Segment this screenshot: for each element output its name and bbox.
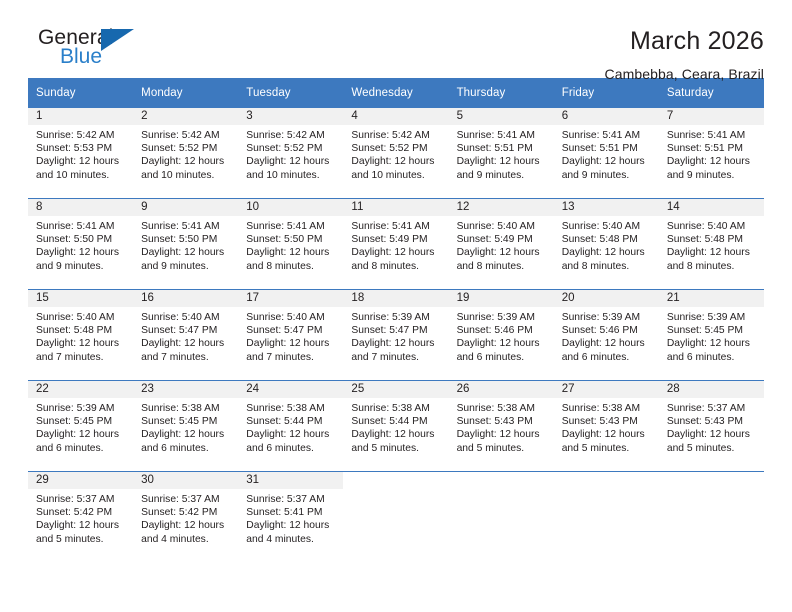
calendar-day-cell[interactable]: 22Sunrise: 5:39 AMSunset: 5:45 PMDayligh… xyxy=(28,381,133,472)
daylight-duration-line1: Daylight: 12 hours xyxy=(457,428,548,441)
calendar-day-cell[interactable]: 14Sunrise: 5:40 AMSunset: 5:48 PMDayligh… xyxy=(659,199,764,290)
day-number: 2 xyxy=(133,108,238,125)
daylight-duration-line2: and 8 minutes. xyxy=(246,260,337,273)
sunrise-time: Sunrise: 5:37 AM xyxy=(141,493,232,506)
sunset-time: Sunset: 5:52 PM xyxy=(246,142,337,155)
sunset-time: Sunset: 5:50 PM xyxy=(36,233,127,246)
day-details: Sunrise: 5:37 AMSunset: 5:41 PMDaylight:… xyxy=(238,489,343,546)
daylight-duration-line1: Daylight: 12 hours xyxy=(562,155,653,168)
sunset-time: Sunset: 5:47 PM xyxy=(141,324,232,337)
weekday-header-monday: Monday xyxy=(133,78,238,108)
daylight-duration-line1: Daylight: 12 hours xyxy=(667,155,758,168)
daylight-duration-line2: and 10 minutes. xyxy=(36,169,127,182)
calendar-day-cell-empty xyxy=(449,472,554,563)
daylight-duration-line1: Daylight: 12 hours xyxy=(562,246,653,259)
day-number: 16 xyxy=(133,290,238,307)
day-number: 6 xyxy=(554,108,659,125)
calendar-day-cell[interactable]: 8Sunrise: 5:41 AMSunset: 5:50 PMDaylight… xyxy=(28,199,133,290)
day-number: 31 xyxy=(238,472,343,489)
day-number xyxy=(554,472,659,489)
day-number: 17 xyxy=(238,290,343,307)
day-details: Sunrise: 5:40 AMSunset: 5:48 PMDaylight:… xyxy=(554,216,659,273)
daylight-duration-line2: and 7 minutes. xyxy=(246,351,337,364)
daylight-duration-line2: and 6 minutes. xyxy=(36,442,127,455)
sunrise-time: Sunrise: 5:39 AM xyxy=(351,311,442,324)
sunrise-time: Sunrise: 5:40 AM xyxy=(562,220,653,233)
daylight-duration-line1: Daylight: 12 hours xyxy=(36,246,127,259)
sunrise-time: Sunrise: 5:41 AM xyxy=(667,129,758,142)
sunset-time: Sunset: 5:45 PM xyxy=(667,324,758,337)
daylight-duration-line2: and 5 minutes. xyxy=(36,533,127,546)
daylight-duration-line2: and 5 minutes. xyxy=(667,442,758,455)
sunrise-time: Sunrise: 5:37 AM xyxy=(667,402,758,415)
sunset-time: Sunset: 5:42 PM xyxy=(141,506,232,519)
daylight-duration-line2: and 6 minutes. xyxy=(667,351,758,364)
day-details: Sunrise: 5:37 AMSunset: 5:42 PMDaylight:… xyxy=(28,489,133,546)
calendar-day-cell[interactable]: 23Sunrise: 5:38 AMSunset: 5:45 PMDayligh… xyxy=(133,381,238,472)
sunset-time: Sunset: 5:52 PM xyxy=(351,142,442,155)
sunrise-time: Sunrise: 5:40 AM xyxy=(36,311,127,324)
calendar-day-cell-empty xyxy=(554,472,659,563)
daylight-duration-line1: Daylight: 12 hours xyxy=(351,155,442,168)
day-details: Sunrise: 5:37 AMSunset: 5:43 PMDaylight:… xyxy=(659,398,764,455)
daylight-duration-line2: and 9 minutes. xyxy=(562,169,653,182)
day-number: 12 xyxy=(449,199,554,216)
calendar-day-cell[interactable]: 25Sunrise: 5:38 AMSunset: 5:44 PMDayligh… xyxy=(343,381,448,472)
day-number: 11 xyxy=(343,199,448,216)
sunrise-time: Sunrise: 5:41 AM xyxy=(457,129,548,142)
sunset-time: Sunset: 5:52 PM xyxy=(141,142,232,155)
calendar-day-cell[interactable]: 9Sunrise: 5:41 AMSunset: 5:50 PMDaylight… xyxy=(133,199,238,290)
sunset-time: Sunset: 5:53 PM xyxy=(36,142,127,155)
sunrise-time: Sunrise: 5:42 AM xyxy=(36,129,127,142)
day-details: Sunrise: 5:40 AMSunset: 5:49 PMDaylight:… xyxy=(449,216,554,273)
daylight-duration-line1: Daylight: 12 hours xyxy=(351,428,442,441)
sunrise-time: Sunrise: 5:40 AM xyxy=(246,311,337,324)
calendar-day-cell[interactable]: 30Sunrise: 5:37 AMSunset: 5:42 PMDayligh… xyxy=(133,472,238,563)
day-details: Sunrise: 5:38 AMSunset: 5:44 PMDaylight:… xyxy=(343,398,448,455)
sunrise-time: Sunrise: 5:39 AM xyxy=(562,311,653,324)
calendar-day-cell[interactable]: 26Sunrise: 5:38 AMSunset: 5:43 PMDayligh… xyxy=(449,381,554,472)
sunset-time: Sunset: 5:48 PM xyxy=(562,233,653,246)
sunset-time: Sunset: 5:50 PM xyxy=(246,233,337,246)
daylight-duration-line1: Daylight: 12 hours xyxy=(246,428,337,441)
sunrise-time: Sunrise: 5:42 AM xyxy=(246,129,337,142)
logo-text-blue: Blue xyxy=(60,45,102,69)
daylight-duration-line1: Daylight: 12 hours xyxy=(141,428,232,441)
daylight-duration-line1: Daylight: 12 hours xyxy=(36,428,127,441)
day-number xyxy=(449,472,554,489)
daylight-duration-line2: and 7 minutes. xyxy=(141,351,232,364)
daylight-duration-line1: Daylight: 12 hours xyxy=(36,155,127,168)
day-number xyxy=(343,472,448,489)
day-details: Sunrise: 5:41 AMSunset: 5:50 PMDaylight:… xyxy=(28,216,133,273)
day-number: 25 xyxy=(343,381,448,398)
daylight-duration-line1: Daylight: 12 hours xyxy=(36,519,127,532)
day-number: 30 xyxy=(133,472,238,489)
sunset-time: Sunset: 5:46 PM xyxy=(457,324,548,337)
daylight-duration-line1: Daylight: 12 hours xyxy=(667,428,758,441)
daylight-duration-line1: Daylight: 12 hours xyxy=(457,337,548,350)
daylight-duration-line2: and 4 minutes. xyxy=(246,533,337,546)
daylight-duration-line1: Daylight: 12 hours xyxy=(36,337,127,350)
sunrise-time: Sunrise: 5:40 AM xyxy=(141,311,232,324)
daylight-duration-line1: Daylight: 12 hours xyxy=(351,246,442,259)
day-number: 3 xyxy=(238,108,343,125)
sunset-time: Sunset: 5:46 PM xyxy=(562,324,653,337)
sunrise-time: Sunrise: 5:41 AM xyxy=(246,220,337,233)
day-details: Sunrise: 5:39 AMSunset: 5:45 PMDaylight:… xyxy=(659,307,764,364)
calendar-day-cell[interactable]: 6Sunrise: 5:41 AMSunset: 5:51 PMDaylight… xyxy=(554,108,659,199)
day-details: Sunrise: 5:38 AMSunset: 5:44 PMDaylight:… xyxy=(238,398,343,455)
sunset-time: Sunset: 5:42 PM xyxy=(36,506,127,519)
daylight-duration-line1: Daylight: 12 hours xyxy=(457,155,548,168)
day-details: Sunrise: 5:37 AMSunset: 5:42 PMDaylight:… xyxy=(133,489,238,546)
sunset-time: Sunset: 5:50 PM xyxy=(141,233,232,246)
calendar-day-cell[interactable]: 2Sunrise: 5:42 AMSunset: 5:52 PMDaylight… xyxy=(133,108,238,199)
day-details: Sunrise: 5:40 AMSunset: 5:48 PMDaylight:… xyxy=(28,307,133,364)
calendar-day-cell[interactable]: 27Sunrise: 5:38 AMSunset: 5:43 PMDayligh… xyxy=(554,381,659,472)
sunrise-time: Sunrise: 5:39 AM xyxy=(667,311,758,324)
sunrise-time: Sunrise: 5:39 AM xyxy=(457,311,548,324)
sunrise-time: Sunrise: 5:41 AM xyxy=(141,220,232,233)
weekday-header-tuesday: Tuesday xyxy=(238,78,343,108)
calendar-day-cell[interactable]: 28Sunrise: 5:37 AMSunset: 5:43 PMDayligh… xyxy=(659,381,764,472)
sunrise-time: Sunrise: 5:38 AM xyxy=(141,402,232,415)
daylight-duration-line1: Daylight: 12 hours xyxy=(457,246,548,259)
sunrise-time: Sunrise: 5:42 AM xyxy=(141,129,232,142)
day-number: 20 xyxy=(554,290,659,307)
daylight-duration-line2: and 5 minutes. xyxy=(562,442,653,455)
calendar-day-cell[interactable]: 24Sunrise: 5:38 AMSunset: 5:44 PMDayligh… xyxy=(238,381,343,472)
sunrise-time: Sunrise: 5:41 AM xyxy=(351,220,442,233)
sunset-time: Sunset: 5:48 PM xyxy=(36,324,127,337)
sunrise-time: Sunrise: 5:42 AM xyxy=(351,129,442,142)
daylight-duration-line2: and 8 minutes. xyxy=(351,260,442,273)
day-number: 26 xyxy=(449,381,554,398)
day-details: Sunrise: 5:38 AMSunset: 5:45 PMDaylight:… xyxy=(133,398,238,455)
calendar-week-row: 22Sunrise: 5:39 AMSunset: 5:45 PMDayligh… xyxy=(28,381,764,472)
day-details: Sunrise: 5:42 AMSunset: 5:52 PMDaylight:… xyxy=(238,125,343,182)
sunset-time: Sunset: 5:47 PM xyxy=(351,324,442,337)
daylight-duration-line2: and 7 minutes. xyxy=(351,351,442,364)
sunrise-time: Sunrise: 5:38 AM xyxy=(351,402,442,415)
sunrise-time: Sunrise: 5:37 AM xyxy=(246,493,337,506)
daylight-duration-line2: and 9 minutes. xyxy=(457,169,548,182)
day-details: Sunrise: 5:40 AMSunset: 5:47 PMDaylight:… xyxy=(238,307,343,364)
sunset-time: Sunset: 5:51 PM xyxy=(667,142,758,155)
sunset-time: Sunset: 5:48 PM xyxy=(667,233,758,246)
day-details: Sunrise: 5:42 AMSunset: 5:53 PMDaylight:… xyxy=(28,125,133,182)
day-details: Sunrise: 5:39 AMSunset: 5:46 PMDaylight:… xyxy=(554,307,659,364)
daylight-duration-line1: Daylight: 12 hours xyxy=(141,155,232,168)
day-details: Sunrise: 5:42 AMSunset: 5:52 PMDaylight:… xyxy=(343,125,448,182)
sunrise-time: Sunrise: 5:37 AM xyxy=(36,493,127,506)
day-details: Sunrise: 5:41 AMSunset: 5:50 PMDaylight:… xyxy=(238,216,343,273)
daylight-duration-line1: Daylight: 12 hours xyxy=(562,428,653,441)
daylight-duration-line1: Daylight: 12 hours xyxy=(246,155,337,168)
daylight-duration-line2: and 8 minutes. xyxy=(562,260,653,273)
sunset-time: Sunset: 5:51 PM xyxy=(457,142,548,155)
calendar-day-cell[interactable]: 12Sunrise: 5:40 AMSunset: 5:49 PMDayligh… xyxy=(449,199,554,290)
day-number: 22 xyxy=(28,381,133,398)
calendar-day-cell[interactable]: 21Sunrise: 5:39 AMSunset: 5:45 PMDayligh… xyxy=(659,290,764,381)
sunrise-time: Sunrise: 5:38 AM xyxy=(562,402,653,415)
day-number: 1 xyxy=(28,108,133,125)
sunset-time: Sunset: 5:43 PM xyxy=(667,415,758,428)
day-details: Sunrise: 5:41 AMSunset: 5:51 PMDaylight:… xyxy=(554,125,659,182)
calendar-week-row: 8Sunrise: 5:41 AMSunset: 5:50 PMDaylight… xyxy=(28,199,764,290)
daylight-duration-line1: Daylight: 12 hours xyxy=(246,246,337,259)
daylight-duration-line2: and 9 minutes. xyxy=(36,260,127,273)
day-number: 15 xyxy=(28,290,133,307)
day-number: 9 xyxy=(133,199,238,216)
sunset-time: Sunset: 5:49 PM xyxy=(351,233,442,246)
daylight-duration-line2: and 5 minutes. xyxy=(351,442,442,455)
calendar-day-cell[interactable]: 17Sunrise: 5:40 AMSunset: 5:47 PMDayligh… xyxy=(238,290,343,381)
day-details: Sunrise: 5:41 AMSunset: 5:50 PMDaylight:… xyxy=(133,216,238,273)
daylight-duration-line2: and 9 minutes. xyxy=(667,169,758,182)
daylight-duration-line1: Daylight: 12 hours xyxy=(246,337,337,350)
daylight-duration-line1: Daylight: 12 hours xyxy=(667,246,758,259)
daylight-duration-line2: and 5 minutes. xyxy=(457,442,548,455)
daylight-duration-line2: and 6 minutes. xyxy=(457,351,548,364)
day-details: Sunrise: 5:40 AMSunset: 5:47 PMDaylight:… xyxy=(133,307,238,364)
day-number: 14 xyxy=(659,199,764,216)
calendar-day-cell[interactable]: 20Sunrise: 5:39 AMSunset: 5:46 PMDayligh… xyxy=(554,290,659,381)
day-details: Sunrise: 5:39 AMSunset: 5:46 PMDaylight:… xyxy=(449,307,554,364)
calendar-page: General Blue March 2026 Cambebba, Ceara,… xyxy=(0,0,792,612)
sunrise-time: Sunrise: 5:40 AM xyxy=(667,220,758,233)
sunrise-time: Sunrise: 5:38 AM xyxy=(457,402,548,415)
general-blue-logo[interactable]: General Blue xyxy=(28,26,198,78)
calendar-body: 1Sunrise: 5:42 AMSunset: 5:53 PMDaylight… xyxy=(28,108,764,563)
day-number: 29 xyxy=(28,472,133,489)
daylight-duration-line2: and 8 minutes. xyxy=(667,260,758,273)
calendar-day-cell[interactable]: 18Sunrise: 5:39 AMSunset: 5:47 PMDayligh… xyxy=(343,290,448,381)
day-number: 28 xyxy=(659,381,764,398)
daylight-duration-line1: Daylight: 12 hours xyxy=(141,519,232,532)
daylight-duration-line2: and 8 minutes. xyxy=(457,260,548,273)
day-number: 13 xyxy=(554,199,659,216)
calendar-day-cell[interactable]: 4Sunrise: 5:42 AMSunset: 5:52 PMDaylight… xyxy=(343,108,448,199)
day-details: Sunrise: 5:42 AMSunset: 5:52 PMDaylight:… xyxy=(133,125,238,182)
sunrise-time: Sunrise: 5:41 AM xyxy=(36,220,127,233)
sunrise-time: Sunrise: 5:40 AM xyxy=(457,220,548,233)
day-number: 18 xyxy=(343,290,448,307)
weekday-header-thursday: Thursday xyxy=(449,78,554,108)
day-details: Sunrise: 5:38 AMSunset: 5:43 PMDaylight:… xyxy=(554,398,659,455)
daylight-duration-line2: and 6 minutes. xyxy=(246,442,337,455)
calendar-day-cell[interactable]: 19Sunrise: 5:39 AMSunset: 5:46 PMDayligh… xyxy=(449,290,554,381)
sunset-time: Sunset: 5:45 PM xyxy=(36,415,127,428)
calendar-day-cell[interactable]: 16Sunrise: 5:40 AMSunset: 5:47 PMDayligh… xyxy=(133,290,238,381)
weekday-header-sunday: Sunday xyxy=(28,78,133,108)
daylight-duration-line1: Daylight: 12 hours xyxy=(351,337,442,350)
calendar-day-cell[interactable]: 10Sunrise: 5:41 AMSunset: 5:50 PMDayligh… xyxy=(238,199,343,290)
calendar-day-cell[interactable]: 5Sunrise: 5:41 AMSunset: 5:51 PMDaylight… xyxy=(449,108,554,199)
page-title: March 2026 xyxy=(605,26,765,56)
day-details: Sunrise: 5:41 AMSunset: 5:51 PMDaylight:… xyxy=(449,125,554,182)
daylight-duration-line2: and 6 minutes. xyxy=(562,351,653,364)
day-details: Sunrise: 5:40 AMSunset: 5:48 PMDaylight:… xyxy=(659,216,764,273)
weekday-header-wednesday: Wednesday xyxy=(343,78,448,108)
daylight-duration-line1: Daylight: 12 hours xyxy=(141,246,232,259)
calendar-day-cell[interactable]: 3Sunrise: 5:42 AMSunset: 5:52 PMDaylight… xyxy=(238,108,343,199)
day-number: 23 xyxy=(133,381,238,398)
calendar-day-cell[interactable]: 7Sunrise: 5:41 AMSunset: 5:51 PMDaylight… xyxy=(659,108,764,199)
daylight-duration-line2: and 9 minutes. xyxy=(141,260,232,273)
sunset-time: Sunset: 5:43 PM xyxy=(562,415,653,428)
day-details: Sunrise: 5:38 AMSunset: 5:43 PMDaylight:… xyxy=(449,398,554,455)
daylight-duration-line1: Daylight: 12 hours xyxy=(141,337,232,350)
day-number: 7 xyxy=(659,108,764,125)
sunset-time: Sunset: 5:43 PM xyxy=(457,415,548,428)
day-number: 5 xyxy=(449,108,554,125)
day-number: 21 xyxy=(659,290,764,307)
calendar-day-cell-empty xyxy=(343,472,448,563)
sunset-time: Sunset: 5:49 PM xyxy=(457,233,548,246)
calendar-day-cell[interactable]: 31Sunrise: 5:37 AMSunset: 5:41 PMDayligh… xyxy=(238,472,343,563)
daylight-duration-line2: and 4 minutes. xyxy=(141,533,232,546)
sunrise-sunset-calendar: Sunday Monday Tuesday Wednesday Thursday… xyxy=(28,78,764,562)
calendar-day-cell[interactable]: 15Sunrise: 5:40 AMSunset: 5:48 PMDayligh… xyxy=(28,290,133,381)
day-number: 27 xyxy=(554,381,659,398)
day-number: 24 xyxy=(238,381,343,398)
day-number: 4 xyxy=(343,108,448,125)
sunrise-time: Sunrise: 5:41 AM xyxy=(562,129,653,142)
day-number: 19 xyxy=(449,290,554,307)
daylight-duration-line2: and 6 minutes. xyxy=(141,442,232,455)
day-number: 10 xyxy=(238,199,343,216)
sunset-time: Sunset: 5:45 PM xyxy=(141,415,232,428)
logo-triangle-icon xyxy=(101,29,134,51)
sunset-time: Sunset: 5:51 PM xyxy=(562,142,653,155)
title-block: March 2026 Cambebba, Ceara, Brazil xyxy=(605,26,765,84)
sunrise-time: Sunrise: 5:39 AM xyxy=(36,402,127,415)
daylight-duration-line2: and 10 minutes. xyxy=(246,169,337,182)
sunset-time: Sunset: 5:44 PM xyxy=(246,415,337,428)
sunset-time: Sunset: 5:41 PM xyxy=(246,506,337,519)
daylight-duration-line1: Daylight: 12 hours xyxy=(246,519,337,532)
page-header: General Blue March 2026 Cambebba, Ceara,… xyxy=(28,0,764,72)
calendar-day-cell[interactable]: 11Sunrise: 5:41 AMSunset: 5:49 PMDayligh… xyxy=(343,199,448,290)
page-subtitle: Cambebba, Ceara, Brazil xyxy=(605,64,765,84)
sunrise-time: Sunrise: 5:38 AM xyxy=(246,402,337,415)
calendar-week-row: 1Sunrise: 5:42 AMSunset: 5:53 PMDaylight… xyxy=(28,108,764,199)
sunset-time: Sunset: 5:47 PM xyxy=(246,324,337,337)
day-details: Sunrise: 5:39 AMSunset: 5:45 PMDaylight:… xyxy=(28,398,133,455)
daylight-duration-line2: and 10 minutes. xyxy=(141,169,232,182)
calendar-day-cell[interactable]: 13Sunrise: 5:40 AMSunset: 5:48 PMDayligh… xyxy=(554,199,659,290)
calendar-week-row: 15Sunrise: 5:40 AMSunset: 5:48 PMDayligh… xyxy=(28,290,764,381)
daylight-duration-line2: and 7 minutes. xyxy=(36,351,127,364)
calendar-day-cell[interactable]: 29Sunrise: 5:37 AMSunset: 5:42 PMDayligh… xyxy=(28,472,133,563)
calendar-week-row: 29Sunrise: 5:37 AMSunset: 5:42 PMDayligh… xyxy=(28,472,764,563)
day-details: Sunrise: 5:41 AMSunset: 5:51 PMDaylight:… xyxy=(659,125,764,182)
calendar-day-cell-empty xyxy=(659,472,764,563)
calendar-day-cell[interactable]: 1Sunrise: 5:42 AMSunset: 5:53 PMDaylight… xyxy=(28,108,133,199)
daylight-duration-line1: Daylight: 12 hours xyxy=(562,337,653,350)
day-number: 8 xyxy=(28,199,133,216)
daylight-duration-line2: and 10 minutes. xyxy=(351,169,442,182)
day-details: Sunrise: 5:41 AMSunset: 5:49 PMDaylight:… xyxy=(343,216,448,273)
day-details: Sunrise: 5:39 AMSunset: 5:47 PMDaylight:… xyxy=(343,307,448,364)
sunset-time: Sunset: 5:44 PM xyxy=(351,415,442,428)
daylight-duration-line1: Daylight: 12 hours xyxy=(667,337,758,350)
day-number xyxy=(659,472,764,489)
